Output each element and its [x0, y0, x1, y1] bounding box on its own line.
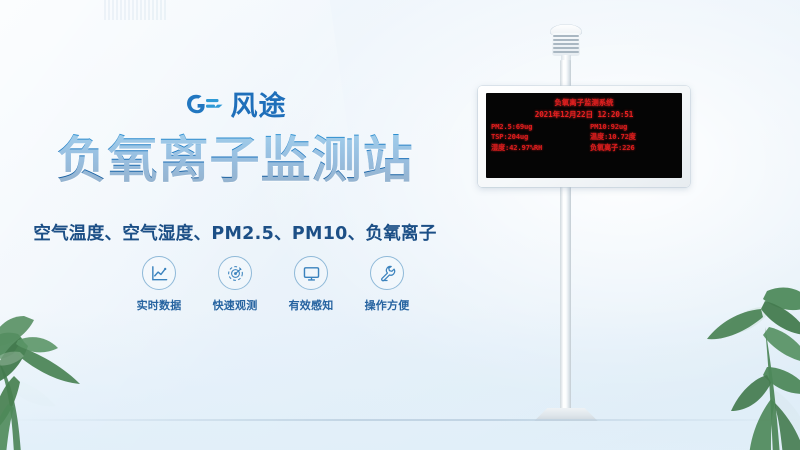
led-reading-pm25: PM2.5:69ug — [491, 122, 584, 131]
promo-banner: 风途 负氧离子监测站 空气温度、空气湿度、PM2.5、PM10、负氧离子 实时数… — [0, 0, 800, 450]
leaf-plant-icon — [0, 294, 134, 450]
led-display-title: 负氧离子监测系统 — [491, 97, 677, 108]
led-reading-tsp: TSP:204ug — [491, 132, 584, 142]
led-readings-grid: PM2.5:69ug PM10:92ug TSP:204ug 温度:10.72度… — [491, 122, 677, 153]
led-reading-humid: 湿度:42.97%RH — [491, 143, 584, 153]
led-display-datetime: 2021年12月22日 12:20:51 — [491, 109, 677, 120]
leaf-plant-icon — [677, 271, 800, 450]
led-reading-pm10: PM10:92ug — [584, 122, 677, 131]
led-display-panel[interactable]: 负氧离子监测系统 2021年12月22日 12:20:51 PM2.5:69ug… — [478, 86, 690, 187]
led-screen: 负氧离子监测系统 2021年12月22日 12:20:51 PM2.5:69ug… — [486, 93, 682, 178]
led-reading-anion: 负氧离子:226 — [584, 143, 677, 153]
led-reading-temp: 温度:10.72度 — [584, 132, 677, 142]
